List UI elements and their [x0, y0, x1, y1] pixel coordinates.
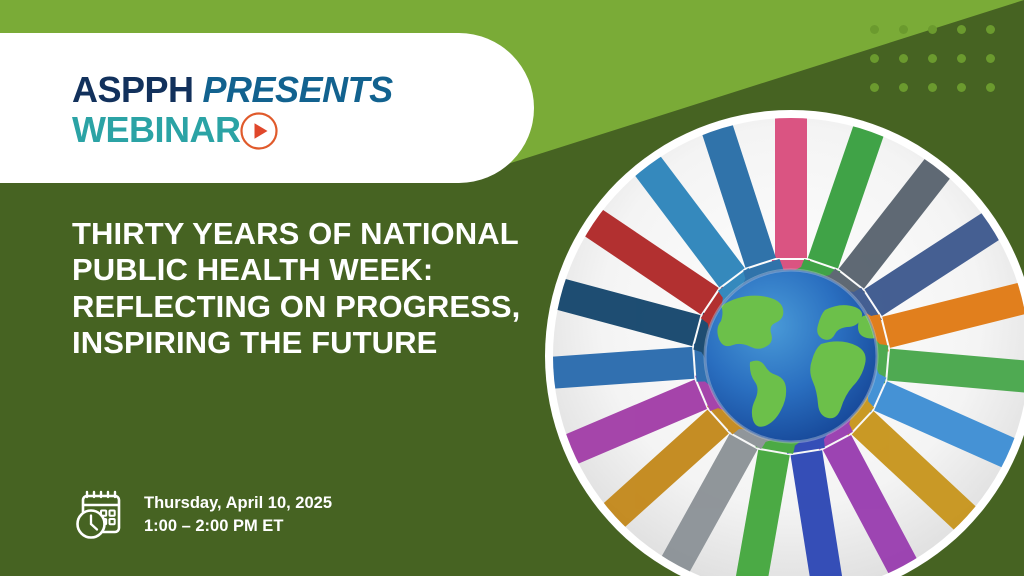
dot	[928, 25, 937, 34]
logo-top-line: ASPPHPRESENTS	[72, 72, 393, 109]
play-button-icon	[238, 110, 280, 152]
dot	[957, 25, 966, 34]
dot	[986, 83, 995, 92]
dot	[986, 25, 995, 34]
dot	[986, 54, 995, 63]
page-title: THIRTY YEARS OF NATIONAL PUBLIC HEALTH W…	[72, 216, 542, 361]
event-time: 1:00 – 2:00 PM ET	[144, 515, 332, 538]
event-datetime: Thursday, April 10, 2025 1:00 – 2:00 PM …	[72, 487, 332, 543]
dot	[870, 25, 879, 34]
event-date: Thursday, April 10, 2025	[144, 492, 332, 515]
logo-aspph-text: ASPPH	[72, 69, 194, 110]
dot	[899, 25, 908, 34]
dot	[899, 83, 908, 92]
webinar-promo-banner: ASPPHPRESENTS WEBINAR THIRTY YEARS OF NA…	[0, 0, 1024, 576]
dot	[899, 54, 908, 63]
dot	[928, 54, 937, 63]
aspph-webinar-logo: ASPPHPRESENTS WEBINAR	[72, 72, 393, 152]
logo-webinar-text: WEBINAR	[72, 112, 240, 149]
calendar-clock-icon	[72, 487, 128, 543]
logo-bottom-line: WEBINAR	[72, 110, 393, 152]
dot	[870, 54, 879, 63]
dot	[870, 83, 879, 92]
decorative-dot-grid	[870, 25, 1010, 101]
dot	[928, 83, 937, 92]
dot	[957, 83, 966, 92]
event-datetime-text: Thursday, April 10, 2025 1:00 – 2:00 PM …	[144, 492, 332, 538]
logo-presents-text: PRESENTS	[203, 69, 393, 110]
dot	[957, 54, 966, 63]
